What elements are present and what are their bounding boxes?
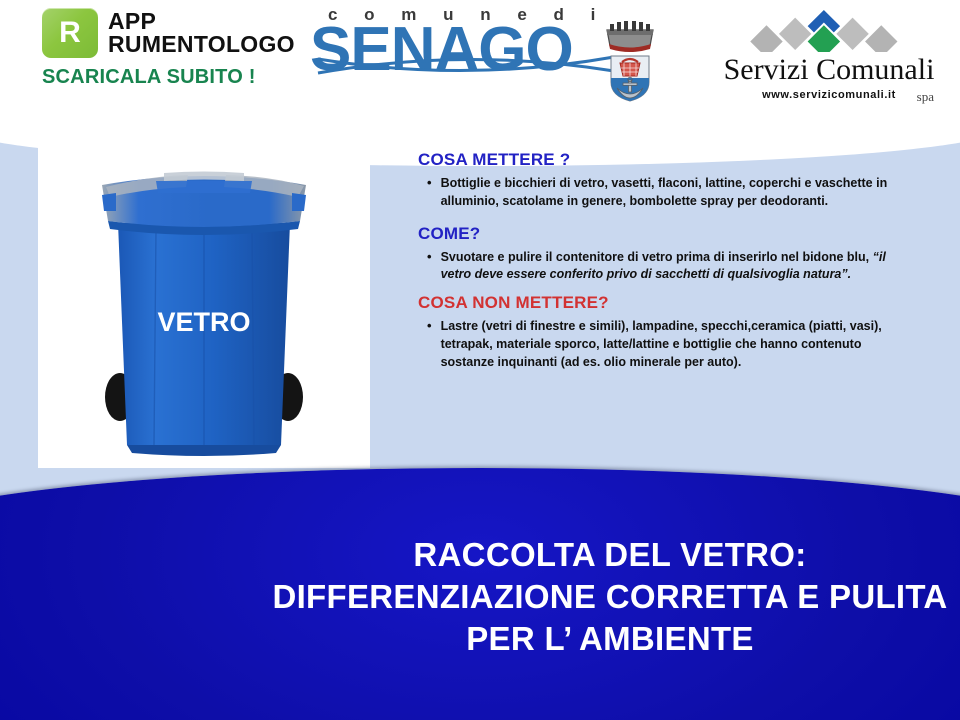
- blue-wheeled-bin-icon: VETRO: [38, 145, 370, 468]
- servizi-comunali-diamonds-icon: [733, 8, 924, 52]
- bullet-item: • Bottiglie e bicchieri di vetro, vasett…: [418, 175, 918, 211]
- section-cosa-mettere: COSA METTERE ? • Bottiglie e bicchieri d…: [418, 150, 918, 211]
- bullet-text: Lastre (vetri di finestre e simili), lam…: [441, 318, 918, 371]
- app-logo-tagline: SCARICALA SUBITO !: [42, 66, 322, 89]
- app-badge-letter: R: [59, 18, 81, 48]
- bullet-item: • Lastre (vetri di finestre e simili), l…: [418, 318, 918, 371]
- senago-coat-of-arms-icon: [604, 16, 656, 102]
- bin-photo: VETRO VETRO: [38, 145, 370, 468]
- instructions-panel: COSA METTERE ? • Bottiglie e bicchieri d…: [418, 150, 918, 384]
- servizi-comunali-url[interactable]: www.servizicomunali.it: [762, 89, 896, 101]
- banner-line-3: PER L’ AMBIENTE: [130, 618, 960, 660]
- comune-di-senago-logo: c o m u n e d i SENAGO: [310, 6, 630, 106]
- bullet-glyph: •: [427, 318, 432, 371]
- servizi-comunali-logo: Servizi Comunali www.servizicomunali.it …: [706, 8, 952, 104]
- banner-line-1: RACCOLTA DEL VETRO:: [130, 534, 960, 576]
- bullet-text-plain: Svuotare e pulire il contenitore di vetr…: [441, 250, 873, 264]
- banner-headline: RACCOLTA DEL VETRO: DIFFERENZIAZIONE COR…: [130, 534, 960, 661]
- servizi-comunali-name: Servizi Comunali: [706, 55, 952, 85]
- senago-name: SENAGO: [310, 15, 573, 84]
- section-heading: COME?: [418, 224, 918, 244]
- section-cosa-non-mettere: COSA NON METTERE? • Lastre (vetri di fin…: [418, 293, 918, 371]
- bullet-glyph: •: [427, 249, 432, 285]
- section-heading: COSA NON METTERE?: [418, 293, 918, 313]
- bullet-text: Bottiglie e bicchieri di vetro, vasetti,…: [441, 175, 918, 211]
- app-logo-line2: RUMENTOLOGO: [108, 33, 295, 56]
- app-badge-icon: R: [42, 8, 98, 58]
- banner-line-2: DIFFERENZIAZIONE CORRETTA E PULITA: [130, 576, 960, 618]
- servizi-comunali-suffix: spa: [917, 89, 934, 105]
- section-come: COME? • Svuotare e pulire il contenitore…: [418, 224, 918, 285]
- svg-text:VETRO: VETRO: [157, 307, 250, 337]
- senago-wordmark: SENAGO: [310, 19, 630, 81]
- app-logo-line1: APP: [108, 10, 295, 33]
- bullet-text: Svuotare e pulire il contenitore di vetr…: [441, 249, 918, 285]
- app-logo-wordmark: APP RUMENTOLOGO: [108, 10, 295, 57]
- app-rumentologo-logo: R APP RUMENTOLOGO SCARICALA SUBITO !: [42, 8, 322, 100]
- bullet-item: • Svuotare e pulire il contenitore di ve…: [418, 249, 918, 285]
- slide-canvas: R APP RUMENTOLOGO SCARICALA SUBITO ! c o…: [0, 0, 960, 720]
- section-heading: COSA METTERE ?: [418, 150, 918, 170]
- bullet-glyph: •: [427, 175, 432, 211]
